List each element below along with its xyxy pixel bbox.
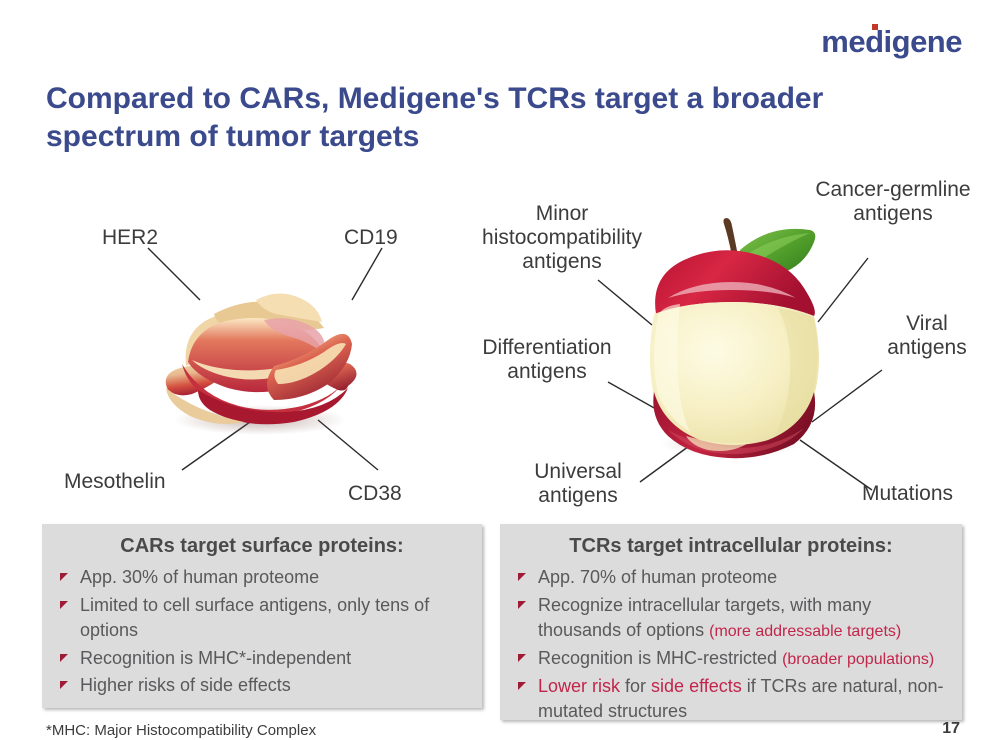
- diagram-area: HER2 CD19 Mesothelin CD38 Minor histocom…: [0, 170, 986, 515]
- label-mutations: Mutations: [862, 482, 953, 506]
- tcrs-bullet-text: side effects: [651, 676, 742, 696]
- tcrs-bullet-text: Recognition is MHC-restricted: [538, 648, 782, 668]
- logo-accent-dot: [872, 24, 878, 30]
- cars-box-title: CARs target surface proteins:: [42, 524, 482, 565]
- cars-bullet-item: Limited to cell surface antigens, only t…: [56, 593, 470, 644]
- slide: medigene Compared to CARs, Medigene's TC…: [0, 0, 986, 740]
- cars-info-box: CARs target surface proteins: App. 30% o…: [42, 524, 482, 708]
- cars-bullet-text: Recognition is MHC*-independent: [80, 648, 351, 668]
- tcrs-bullet-text: App. 70% of human proteome: [538, 567, 777, 587]
- medigene-logo: medigene: [822, 22, 962, 60]
- tcrs-box-title: TCRs target intracellular proteins:: [500, 524, 962, 565]
- tcrs-bullet-text: for: [620, 676, 651, 696]
- label-cancer-germline-antigens: Cancer-germline antigens: [800, 178, 986, 226]
- label-cd38: CD38: [348, 482, 402, 506]
- cars-bullet-list: App. 30% of human proteomeLimited to cel…: [42, 565, 482, 699]
- cars-bullet-text: Higher risks of side effects: [80, 675, 291, 695]
- tcrs-bullet-text: (broader populations): [782, 651, 934, 668]
- logo-wordmark: medigene: [821, 26, 962, 57]
- page-title: Compared to CARs, Medigene's TCRs target…: [46, 80, 826, 157]
- tcrs-bullet-item: Recognition is MHC-restricted (broader p…: [514, 646, 950, 672]
- page-number: 17: [942, 720, 960, 738]
- tcrs-bullet-text: (more addressable targets): [709, 623, 901, 640]
- label-her2: HER2: [102, 226, 158, 250]
- cars-bullet-item: Recognition is MHC*-independent: [56, 646, 470, 672]
- label-mesothelin: Mesothelin: [64, 470, 166, 494]
- label-minor-histocompatibility-antigens: Minor histocompatibility antigens: [462, 202, 662, 274]
- label-universal-antigens: Universal antigens: [506, 460, 650, 508]
- label-viral-antigens: Viral antigens: [874, 312, 980, 360]
- tcrs-bullet-text: Lower risk: [538, 676, 620, 696]
- label-differentiation-antigens: Differentiation antigens: [462, 336, 632, 384]
- tcrs-info-box: TCRs target intracellular proteins: App.…: [500, 524, 962, 720]
- cars-bullet-item: App. 30% of human proteome: [56, 565, 470, 591]
- footnote: *MHC: Major Histocompatibility Complex: [46, 722, 316, 739]
- tcrs-bullet-item: Lower risk for side effects if TCRs are …: [514, 674, 950, 725]
- cars-bullet-text: Limited to cell surface antigens, only t…: [80, 595, 429, 641]
- apple-peel-image: [152, 270, 367, 440]
- cars-bullet-text: App. 30% of human proteome: [80, 567, 319, 587]
- cars-bullet-item: Higher risks of side effects: [56, 673, 470, 699]
- tcrs-bullet-list: App. 70% of human proteomeRecognize intr…: [500, 565, 962, 725]
- label-cd19: CD19: [344, 226, 398, 250]
- tcrs-bullet-item: App. 70% of human proteome: [514, 565, 950, 591]
- tcrs-bullet-item: Recognize intracellular targets, with ma…: [514, 593, 950, 644]
